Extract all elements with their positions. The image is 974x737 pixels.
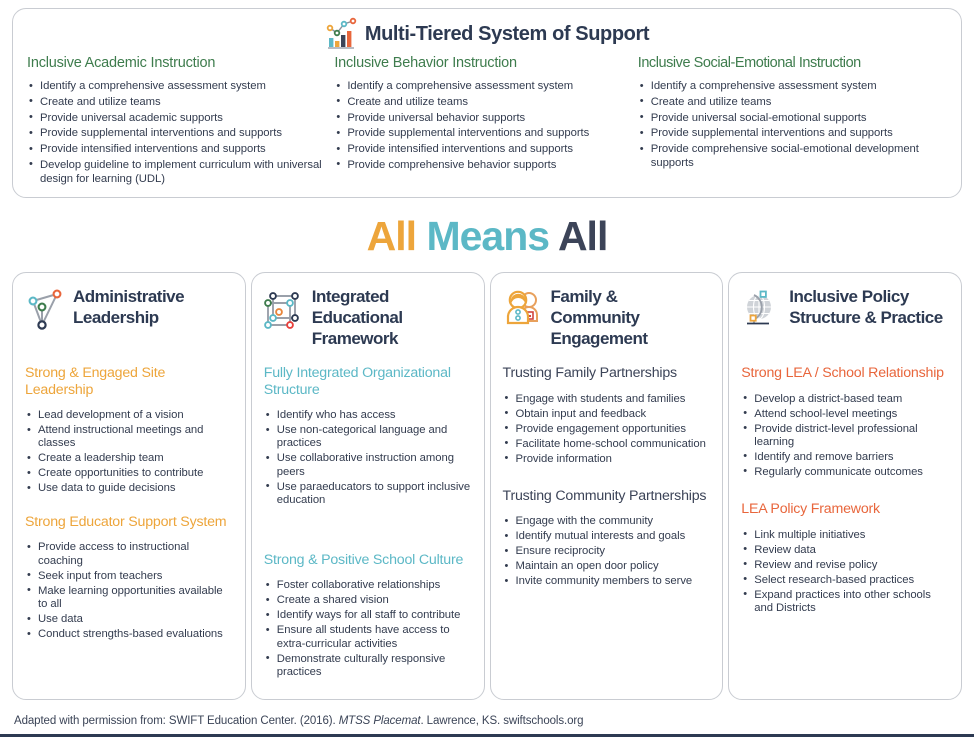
list-item: Identify a comprehensive assessment syst… bbox=[27, 80, 326, 94]
section-heading: Trusting Community Partnerships bbox=[503, 488, 711, 505]
mtss-column-list: Identify a comprehensive assessment syst… bbox=[27, 80, 326, 186]
card-section: Strong & Positive School Culture Foster … bbox=[264, 552, 472, 680]
bar-chart-line-icon bbox=[325, 14, 359, 55]
section-list: Foster collaborative relationships Creat… bbox=[264, 579, 472, 679]
mtss-column-social-emotional: Inclusive Social-Emotional Instruction I… bbox=[638, 55, 947, 188]
mtss-column-heading: Inclusive Behavior Instruction bbox=[334, 55, 629, 71]
mtss-column-heading: Inclusive Academic Instruction bbox=[27, 55, 326, 71]
card-section: Trusting Community Partnerships Engage w… bbox=[503, 488, 711, 589]
list-item: Ensure all students have access to extra… bbox=[264, 624, 472, 651]
footer-text-part1: Adapted with permission from: SWIFT Educ… bbox=[14, 715, 339, 727]
mtss-column-heading: Inclusive Social-Emotional Instruction bbox=[638, 55, 939, 71]
attribution-footer: Adapted with permission from: SWIFT Educ… bbox=[14, 715, 583, 727]
list-item: Ensure reciprocity bbox=[503, 545, 711, 558]
card-section: Trusting Family Partnerships Engage with… bbox=[503, 365, 711, 466]
list-item: Create and utilize teams bbox=[27, 96, 326, 110]
list-item: Use paraeducators to support inclusive e… bbox=[264, 481, 472, 508]
section-heading: Trusting Family Partnerships bbox=[503, 365, 711, 382]
section-list: Identify who has access Use non-categori… bbox=[264, 409, 472, 508]
banner-word-all-1: All bbox=[367, 213, 416, 259]
list-item: Link multiple initiatives bbox=[741, 529, 949, 542]
network-nodes-icon bbox=[25, 285, 67, 336]
list-item: Review data bbox=[741, 544, 949, 557]
card-administrative-leadership: Administrative Leadership Strong & Engag… bbox=[12, 272, 246, 700]
card-header: Administrative Leadership bbox=[25, 285, 233, 363]
list-item: Provide supplemental interventions and s… bbox=[334, 127, 629, 141]
list-item: Provide comprehensive social-emotional d… bbox=[638, 143, 939, 170]
section-list: Engage with students and families Obtain… bbox=[503, 393, 711, 466]
list-item: Use collaborative instruction among peer… bbox=[264, 452, 472, 479]
list-item: Identify who has access bbox=[264, 409, 472, 422]
list-item: Invite community members to serve bbox=[503, 575, 711, 588]
list-item: Demonstrate culturally responsive practi… bbox=[264, 653, 472, 680]
all-means-all-banner: All Means All bbox=[0, 213, 974, 260]
list-item: Select research-based practices bbox=[741, 574, 949, 587]
card-section: Fully Integrated Organizational Structur… bbox=[264, 365, 472, 508]
list-item: Provide universal behavior supports bbox=[334, 112, 629, 126]
globe-stand-icon bbox=[741, 285, 783, 336]
list-item: Attend school-level meetings bbox=[741, 408, 949, 421]
list-item: Create and utilize teams bbox=[638, 96, 939, 110]
list-item: Provide supplemental interventions and s… bbox=[27, 127, 326, 141]
list-item: Create and utilize teams bbox=[334, 96, 629, 110]
section-heading: Strong & Positive School Culture bbox=[264, 552, 472, 569]
list-item: Identify ways for all staff to contribut… bbox=[264, 609, 472, 622]
list-item: Obtain input and feedback bbox=[503, 408, 711, 421]
section-heading: LEA Policy Framework bbox=[741, 501, 949, 518]
mtss-columns: Inclusive Academic Instruction Identify … bbox=[13, 51, 961, 188]
section-heading: Strong & Engaged Site Leadership bbox=[25, 365, 233, 398]
list-item: Use non-categorical language and practic… bbox=[264, 424, 472, 451]
card-title: Family & Community Engagement bbox=[551, 285, 711, 349]
section-list: Lead development of a vision Attend inst… bbox=[25, 409, 233, 496]
card-title: Administrative Leadership bbox=[73, 285, 233, 328]
mtss-column-list: Identify a comprehensive assessment syst… bbox=[334, 80, 629, 173]
mtss-title: Multi-Tiered System of Support bbox=[365, 23, 649, 46]
list-item: Identify a comprehensive assessment syst… bbox=[334, 80, 629, 94]
list-item: Provide district-level professional lear… bbox=[741, 423, 949, 450]
list-item: Provide information bbox=[503, 453, 711, 466]
list-item: Provide intensified interventions and su… bbox=[27, 143, 326, 157]
section-list: Provide access to instructional coaching… bbox=[25, 541, 233, 641]
list-item: Provide comprehensive behavior supports bbox=[334, 159, 629, 173]
list-item: Identify and remove barriers bbox=[741, 451, 949, 464]
list-item: Attend instructional meetings and classe… bbox=[25, 424, 233, 451]
list-item: Provide universal academic supports bbox=[27, 112, 326, 126]
list-item: Develop guideline to implement curriculu… bbox=[27, 159, 326, 186]
footer-title-italic: MTSS Placemat bbox=[339, 715, 421, 727]
card-header: Inclusive Policy Structure & Practice bbox=[741, 285, 949, 363]
list-item: Maintain an open door policy bbox=[503, 560, 711, 573]
list-item: Use data bbox=[25, 613, 233, 626]
card-section: Strong & Engaged Site Leadership Lead de… bbox=[25, 365, 233, 496]
section-list: Develop a district-based team Attend sch… bbox=[741, 393, 949, 480]
card-title: Inclusive Policy Structure & Practice bbox=[789, 285, 949, 328]
banner-word-means: Means bbox=[426, 213, 549, 259]
banner-word-all-2: All bbox=[558, 213, 607, 259]
card-family-community-engagement: Family & Community Engagement Trusting F… bbox=[490, 272, 724, 700]
card-header: Family & Community Engagement bbox=[503, 285, 711, 363]
footer-text-part2: . Lawrence, KS. swiftschools.org bbox=[420, 715, 583, 727]
list-item: Provide access to instructional coaching bbox=[25, 541, 233, 568]
list-item: Engage with the community bbox=[503, 515, 711, 528]
list-item: Develop a district-based team bbox=[741, 393, 949, 406]
card-integrated-educational-framework: Integrated Educational Framework Fully I… bbox=[251, 272, 485, 700]
mtss-placemat-page: Multi-Tiered System of Support Inclusive… bbox=[0, 0, 974, 737]
card-header: Integrated Educational Framework bbox=[264, 285, 472, 363]
mtss-column-behavior: Inclusive Behavior Instruction Identify … bbox=[334, 55, 637, 188]
mtss-column-list: Identify a comprehensive assessment syst… bbox=[638, 80, 939, 170]
list-item: Facilitate home-school communication bbox=[503, 438, 711, 451]
list-item: Use data to guide decisions bbox=[25, 482, 233, 495]
list-item: Foster collaborative relationships bbox=[264, 579, 472, 592]
card-section: Strong Educator Support System Provide a… bbox=[25, 514, 233, 642]
list-item: Make learning opportunities available to… bbox=[25, 585, 233, 612]
list-item: Create opportunities to contribute bbox=[25, 467, 233, 480]
list-item: Seek input from teachers bbox=[25, 570, 233, 583]
list-item: Create a leadership team bbox=[25, 452, 233, 465]
section-heading: Fully Integrated Organizational Structur… bbox=[264, 365, 472, 398]
list-item: Lead development of a vision bbox=[25, 409, 233, 422]
section-heading: Strong LEA / School Relationship bbox=[741, 365, 949, 382]
section-list: Engage with the community Identify mutua… bbox=[503, 515, 711, 588]
mtss-column-academic: Inclusive Academic Instruction Identify … bbox=[27, 55, 334, 188]
section-heading: Strong Educator Support System bbox=[25, 514, 233, 531]
pillar-cards: Administrative Leadership Strong & Engag… bbox=[12, 272, 962, 700]
list-item: Review and revise policy bbox=[741, 559, 949, 572]
list-item: Expand practices into other schools and … bbox=[741, 589, 949, 616]
two-people-icon bbox=[503, 285, 545, 336]
list-item: Engage with students and families bbox=[503, 393, 711, 406]
list-item: Create a shared vision bbox=[264, 594, 472, 607]
list-item: Provide universal social-emotional suppo… bbox=[638, 112, 939, 126]
list-item: Conduct strengths-based evaluations bbox=[25, 628, 233, 641]
section-list: Link multiple initiatives Review data Re… bbox=[741, 529, 949, 616]
list-item: Identify a comprehensive assessment syst… bbox=[638, 80, 939, 94]
card-inclusive-policy-structure-practice: Inclusive Policy Structure & Practice St… bbox=[728, 272, 962, 700]
list-item: Provide intensified interventions and su… bbox=[334, 143, 629, 157]
grid-lattice-icon bbox=[264, 285, 306, 336]
list-item: Regularly communicate outcomes bbox=[741, 466, 949, 479]
mtss-panel: Multi-Tiered System of Support Inclusive… bbox=[12, 8, 962, 198]
card-title: Integrated Educational Framework bbox=[312, 285, 472, 349]
mtss-header: Multi-Tiered System of Support bbox=[13, 9, 961, 51]
list-item: Provide engagement opportunities bbox=[503, 423, 711, 436]
card-section: LEA Policy Framework Link multiple initi… bbox=[741, 501, 949, 615]
list-item: Identify mutual interests and goals bbox=[503, 530, 711, 543]
list-item: Provide supplemental interventions and s… bbox=[638, 127, 939, 141]
card-section: Strong LEA / School Relationship Develop… bbox=[741, 365, 949, 479]
